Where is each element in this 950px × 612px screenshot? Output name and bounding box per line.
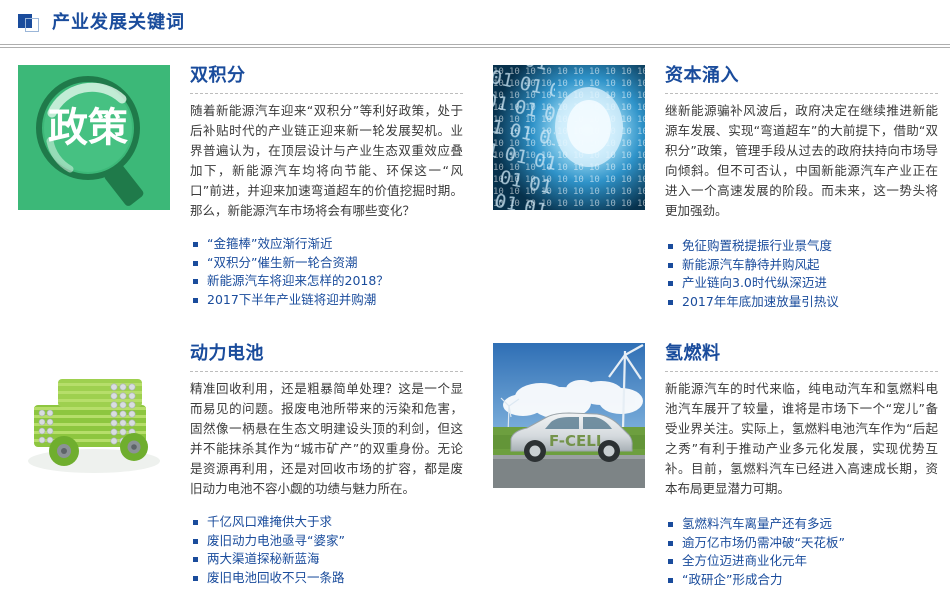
card-link[interactable]: 2017下半年产业链将迎并购潮 <box>193 291 463 310</box>
card-shuangjifen: 政策 双积分 随着新能源汽车迎来“双积分”等利好政策，处于后补贴时代的产业链正迎… <box>0 56 475 334</box>
card-link-list: 氢燃料汽车离量产还有多远 逾万亿市场仍需冲破“天花板” 全方位迈进商业化元年 “… <box>668 515 938 589</box>
card-link-list: “金箍棒”效应渐行渐近 “双积分”催生新一轮合资潮 新能源汽车将迎来怎样的201… <box>193 235 463 309</box>
card-link-list: 免征购置税提振行业景气度 新能源汽车静待并购风起 产业链向3.0时代纵深迈进 2… <box>668 237 938 311</box>
card-link[interactable]: “金箍棒”效应渐行渐近 <box>193 235 463 254</box>
card-links-wrap: “金箍棒”效应渐行渐近 “双积分”催生新一轮合资潮 新能源汽车将迎来怎样的201… <box>190 235 463 309</box>
header-divider <box>0 44 950 48</box>
card-link[interactable]: 免征购置税提振行业景气度 <box>668 237 938 256</box>
fcell-car-image[interactable]: F-CELL <box>493 343 645 488</box>
card-link[interactable]: 废旧电池回收不只一条路 <box>193 569 463 588</box>
card-zibenyongru: 10 01 资本涌入 继新能源骗补风波后，政府决定在继续推进新能源 <box>475 56 950 334</box>
card-row-top: 政策 双积分 随着新能源汽车迎来“双积分”等利好政策，处于后补贴时代的产业链正迎… <box>0 56 950 334</box>
card-body-zibenyongru: 资本涌入 继新能源骗补风波后，政府决定在继续推进新能源车发展、实现“弯道超车”的… <box>645 65 950 334</box>
title-divider <box>190 93 463 94</box>
card-link[interactable]: 全方位迈进商业化元年 <box>668 552 938 571</box>
card-link[interactable]: 产业链向3.0时代纵深迈进 <box>668 274 938 293</box>
card-title: 双积分 <box>190 65 463 87</box>
card-title: 氢燃料 <box>665 343 938 365</box>
card-link[interactable]: 新能源汽车静待并购风起 <box>668 256 938 275</box>
card-description: 新能源汽车的时代来临，纯电动汽车和氢燃料电池汽车展开了较量，谁将是市场下一个“宠… <box>665 379 938 499</box>
keyword-card-grid: 政策 双积分 随着新能源汽车迎来“双积分”等利好政策，处于后补贴时代的产业链正迎… <box>0 56 950 612</box>
policy-magnifier-image[interactable]: 政策 <box>18 65 170 210</box>
card-description: 精准回收利用，还是粗暴简单处理？这是一个显而易见的问题。报废电池所带来的污染和危… <box>190 379 463 499</box>
page-title: 产业发展关键词 <box>52 13 185 33</box>
card-link[interactable]: 新能源汽车将迎来怎样的2018？ <box>193 272 463 291</box>
svg-text:政策: 政策 <box>48 105 128 151</box>
card-link[interactable]: “政研企”形成合力 <box>668 571 938 590</box>
card-description: 随着新能源汽车迎来“双积分”等利好政策，处于后补贴时代的产业链正迎来新一轮发展契… <box>190 101 463 221</box>
title-divider <box>665 93 938 94</box>
card-link[interactable]: 两大渠道探秘新蓝海 <box>193 550 463 569</box>
card-donglidianchi: 动力电池 精准回收利用，还是粗暴简单处理？这是一个显而易见的问题。报废电池所带来… <box>0 334 475 612</box>
card-links-wrap: 氢燃料汽车离量产还有多远 逾万亿市场仍需冲破“天花板” 全方位迈进商业化元年 “… <box>665 515 938 589</box>
binary-tunnel-image[interactable]: 10 01 <box>493 65 645 210</box>
card-link[interactable]: 氢燃料汽车离量产还有多远 <box>668 515 938 534</box>
card-link[interactable]: 逾万亿市场仍需冲破“天花板” <box>668 534 938 553</box>
card-description: 继新能源骗补风波后，政府决定在继续推进新能源车发展、实现“弯道超车”的大前提下，… <box>665 101 938 221</box>
double-square-icon <box>18 14 40 32</box>
card-qingranliao: F-CELL 氢燃料 新能源汽车的时代来临，纯电动汽车和氢燃料电池汽车展开了较量… <box>475 334 950 612</box>
card-link[interactable]: “双积分”催生新一轮合资潮 <box>193 254 463 273</box>
page-header-inner: 产业发展关键词 <box>18 13 185 33</box>
card-link[interactable]: 千亿风口难掩供大于求 <box>193 513 463 532</box>
card-link-list: 千亿风口难掩供大于求 废旧动力电池亟寻“婆家” 两大渠道探秘新蓝海 废旧电池回收… <box>193 513 463 587</box>
title-divider <box>665 371 938 372</box>
card-body-shuangjifen: 双积分 随着新能源汽车迎来“双积分”等利好政策，处于后补贴时代的产业链正迎来新一… <box>170 65 475 334</box>
svg-text:F-CELL: F-CELL <box>549 432 606 450</box>
card-body-donglidianchi: 动力电池 精准回收利用，还是粗暴简单处理？这是一个显而易见的问题。报废电池所带来… <box>170 343 475 612</box>
page-header: 产业发展关键词 <box>0 0 950 48</box>
card-body-qingranliao: 氢燃料 新能源汽车的时代来临，纯电动汽车和氢燃料电池汽车展开了较量，谁将是市场下… <box>645 343 950 612</box>
card-title: 资本涌入 <box>665 65 938 87</box>
card-links-wrap: 免征购置税提振行业景气度 新能源汽车静待并购风起 产业链向3.0时代纵深迈进 2… <box>665 237 938 311</box>
title-divider <box>190 371 463 372</box>
battery-car-image[interactable] <box>18 343 170 488</box>
card-link[interactable]: 2017年年底加速放量引热议 <box>668 293 938 312</box>
card-title: 动力电池 <box>190 343 463 365</box>
card-row-bottom: 动力电池 精准回收利用，还是粗暴简单处理？这是一个显而易见的问题。报废电池所带来… <box>0 334 950 612</box>
card-link[interactable]: 废旧动力电池亟寻“婆家” <box>193 532 463 551</box>
card-links-wrap: 千亿风口难掩供大于求 废旧动力电池亟寻“婆家” 两大渠道探秘新蓝海 废旧电池回收… <box>190 513 463 587</box>
